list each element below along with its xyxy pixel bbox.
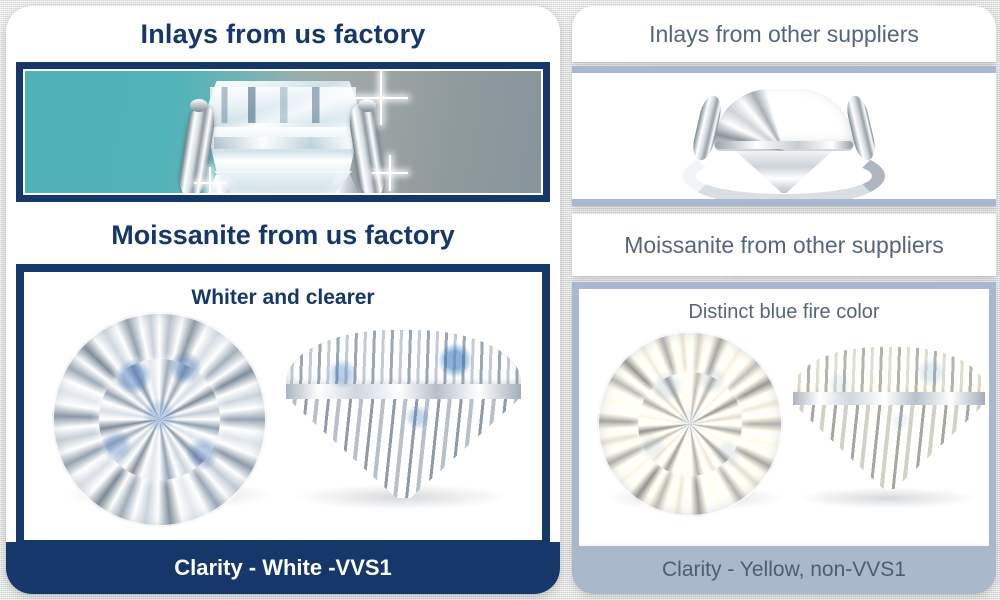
our-factory-inlay-banner-frame — [16, 62, 550, 202]
other-suppliers-inlays-title: Inlays from other suppliers — [572, 6, 996, 62]
other-suppliers-round-diamond — [597, 331, 783, 517]
our-factory-side-diamond — [286, 330, 521, 498]
our-factory-gem-caption: Whiter and clearer — [24, 286, 542, 310]
our-factory-inlays-title: Inlays from us factory — [6, 6, 560, 62]
solitaire-diamond-ring-icon — [679, 79, 889, 203]
emerald-cut-diamond-ring-icon — [158, 75, 408, 195]
other-suppliers-moissanite-title: Moissanite from other suppliers — [572, 214, 996, 276]
other-suppliers-gem-caption: Distinct blue fire color — [579, 301, 989, 324]
our-factory-inlay-banner-image — [23, 69, 543, 195]
other-suppliers-side-diamond — [793, 347, 985, 489]
other-suppliers-clarity-footer: Clarity - Yellow, non-VVS1 — [572, 546, 996, 594]
other-suppliers-column: Inlays from other suppliers Moissanite f… — [572, 6, 996, 594]
our-factory-round-diamond — [52, 312, 267, 527]
our-factory-gem-panel: Whiter and clearer — [24, 272, 542, 540]
other-suppliers-inlay-banner-image — [572, 66, 996, 206]
our-factory-gem-panel-frame: Whiter and clearer — [16, 264, 550, 548]
other-suppliers-gem-panel: Distinct blue fire color — [572, 282, 996, 552]
our-factory-clarity-footer: Clarity - White -VVS1 — [6, 542, 560, 594]
our-factory-card: Inlays from us factory Moissanite from u — [6, 6, 560, 594]
our-factory-moissanite-title: Moissanite from us factory — [6, 202, 560, 268]
gem-shadow — [797, 487, 977, 509]
